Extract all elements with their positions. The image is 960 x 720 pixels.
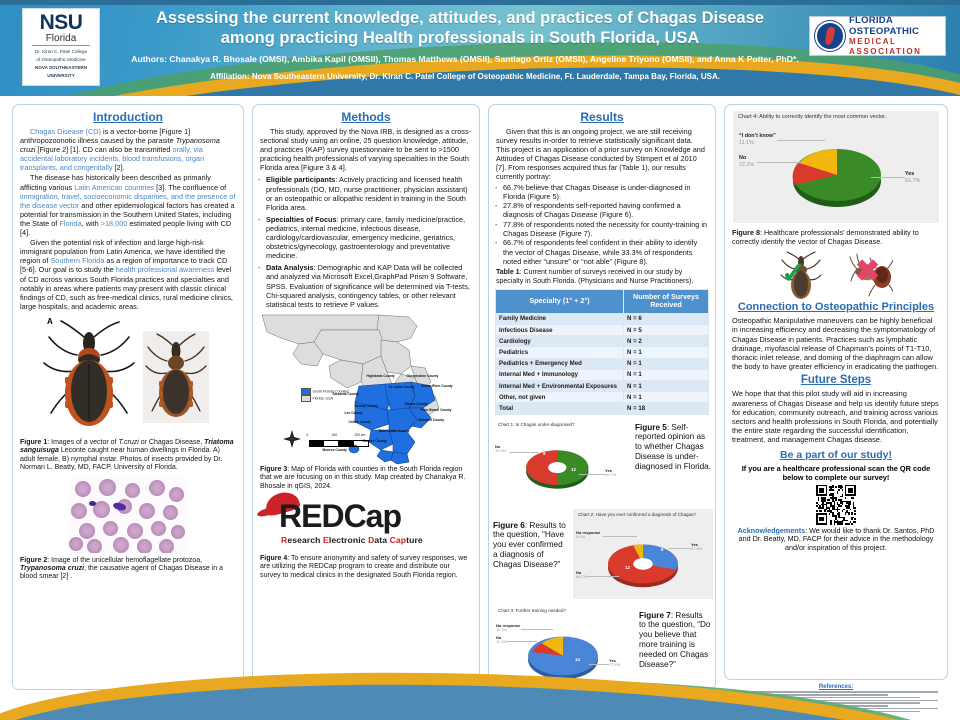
- check-icon: ✓: [781, 259, 806, 289]
- chart-4-leader-no: [757, 162, 801, 163]
- table-header-row: Specialty (1° + 2°) Number of Surveys Re…: [496, 290, 709, 314]
- figure-8-caption-text: : Healthcare professionals’ demonstrated…: [732, 228, 919, 246]
- results-heading: Results: [489, 110, 715, 124]
- chart-4-label-yes: Yes66.7%: [905, 171, 920, 185]
- red-blood-cell: [163, 505, 178, 520]
- table-row: Pediatrics + Emergency MedN = 1: [496, 358, 709, 369]
- red-blood-cell: [71, 503, 87, 519]
- figure-2-caption-label: Figure 2: [20, 557, 47, 564]
- intro-stat-18000: >18,000: [101, 219, 128, 228]
- footer-swoosh: [0, 666, 960, 720]
- figure-8-vector-images: ✓ ✖: [725, 251, 947, 299]
- chart-2-slice-no-count: 12: [625, 565, 630, 570]
- chart-1-leader-yes: [579, 474, 605, 475]
- cell-count: N = 2: [624, 336, 709, 347]
- table-row: Family MedicineN = 6: [496, 313, 709, 324]
- intro-paragraph-2: The disease has historically been descri…: [20, 173, 236, 237]
- chart-4-leader-yes: [871, 177, 905, 178]
- map-scale-0: 0: [307, 433, 309, 437]
- surveys-by-specialty-table: Specialty (1° + 2°) Number of Surveys Re…: [495, 289, 709, 415]
- figure-6-caption-label: Figure 6: [493, 521, 525, 530]
- methods-paragraph-1: This study, approved by the Nova IRB, is…: [260, 127, 472, 172]
- results-bullet-0: 66.7% believe that Chagas Disease is und…: [493, 183, 708, 202]
- map-label-sarasota: Sarasota County: [333, 392, 359, 396]
- figure-1-image: A B: [19, 315, 237, 437]
- red-blood-cell: [171, 525, 185, 539]
- authors-line: Authors: Chanakya R. Bhosale (OMSI), Amb…: [100, 54, 830, 65]
- red-blood-cell: [125, 483, 140, 498]
- methods-bullet-1-label: Specialties of Focus: [266, 215, 337, 224]
- methods-bullet-2-label: Data Analysis: [266, 263, 314, 272]
- cross-icon: ✖: [855, 257, 880, 287]
- methods-panel: Methods This study, approved by the Nova…: [252, 104, 480, 690]
- triatoma-adult-icon: [41, 319, 137, 431]
- map-label-stlucie: St. Lucie County: [389, 385, 415, 389]
- chart-1-label-no: No33.3%: [495, 445, 506, 455]
- figure-7-caption: Figure 7: Results to the question, “Do y…: [639, 611, 711, 670]
- chart-3-leader-yes: [589, 664, 609, 665]
- chart-2-label-noresponse: No response5.6%: [576, 531, 600, 541]
- red-blood-cell: [75, 481, 91, 497]
- intro-paragraph-1: Chagas Disease (CD) is a vector-borne [F…: [20, 127, 236, 172]
- results-intro: Given that this is an ongoing project, w…: [489, 127, 715, 182]
- chart-3-label-no: No11.1%: [496, 636, 507, 646]
- osteopathic-heading: Connection to Osteopathic Principles: [725, 301, 947, 313]
- cell-specialty: Infectious Disease: [496, 325, 624, 336]
- results-bullet-2: 77.8% of respondents noted the necessity…: [493, 220, 708, 239]
- correct-vector-item: ✓: [779, 251, 823, 299]
- title-line-1: Assessing the current knowledge, attitud…: [110, 8, 810, 28]
- right-column-panel: Chart 4: Ability to correctly identify t…: [724, 104, 948, 680]
- figure-3-caption-text: : Map of Florida with counties in the So…: [260, 466, 465, 490]
- chart-2-slice-noresp-count: 1: [637, 535, 639, 540]
- incorrect-vector-item: ✖: [849, 251, 893, 299]
- chart-1: Chart 1: Is Chagas under-diagnosed? 6 12…: [493, 419, 628, 501]
- future-steps-heading: Future Steps: [725, 374, 947, 386]
- compass-rose-icon: [283, 430, 301, 448]
- figure-2-image: [69, 477, 187, 553]
- future-steps-body: We hope that that this pilot study will …: [725, 389, 947, 444]
- methods-bullet-analysis: Data Analysis: Demographic and KAP Data …: [257, 263, 472, 308]
- red-blood-cell: [149, 480, 165, 496]
- qr-matrix: [816, 485, 856, 525]
- figure-3-map: South Florida Counties Florida, USA High…: [259, 312, 474, 464]
- results-bullet-list: 66.7% believe that Chagas Disease is und…: [489, 183, 715, 267]
- methods-heading: Methods: [253, 110, 479, 124]
- map-label-glades: Glades County: [405, 402, 428, 406]
- map-label-hendry: Hendry County: [355, 404, 379, 408]
- table-row: PediatricsN = 1: [496, 347, 709, 358]
- header-top-rule: [0, 0, 960, 5]
- results-panel: Results Given that this is an ongoing pr…: [488, 104, 716, 690]
- red-blood-cell: [137, 539, 152, 553]
- table-row: Infectious DiseaseN = 5: [496, 325, 709, 336]
- chart-1-title: Chart 1: Is Chagas under-diagnosed?: [498, 422, 620, 428]
- map-legend-swatch-selected: [301, 388, 311, 395]
- page-title: Assessing the current knowledge, attitud…: [110, 8, 810, 48]
- chart-1-leader-no: [509, 452, 539, 453]
- chart-2-title: Chart 2: Have you ever confirmed a diagn…: [578, 512, 704, 518]
- chart-2-label-yes: Yes27.8%: [691, 543, 702, 553]
- cell-count: N = 18: [624, 403, 709, 414]
- chart-1-label-yes: Yes66.7%: [605, 469, 616, 479]
- chart-3-leader-no: [507, 641, 537, 642]
- nsu-wordmark: NSU: [26, 13, 96, 33]
- red-blood-cell: [139, 503, 155, 519]
- map-label-lee: Lee County: [345, 411, 363, 415]
- methods-bullet-eligible: Eligible participants: Actively practici…: [257, 175, 472, 211]
- intro-p1-f: [2].: [113, 163, 125, 172]
- table-body: Family MedicineN = 6Infectious DiseaseN …: [496, 313, 709, 414]
- methods-bullet-specialties: Specialties of Focus: primary care, fami…: [257, 215, 472, 260]
- triatoma-nymph-icon: [143, 331, 209, 423]
- figure-3-caption: Figure 3: Map of Florida with counties i…: [253, 464, 479, 491]
- table-col-count: Number of Surveys Received: [624, 290, 709, 314]
- title-line-2: among practicing Health professionals in…: [110, 28, 810, 48]
- map-legend-swatch-base: [301, 395, 311, 402]
- cell-count: N = 1: [624, 358, 709, 369]
- redcap-tagline: Research Electronic Data Capture: [281, 535, 423, 545]
- table-1-caption: Table 1: Current number of surveys recei…: [489, 266, 715, 286]
- map-label-highlands: Highlands County: [367, 374, 395, 378]
- table-row: CardiologyN = 2: [496, 336, 709, 347]
- red-blood-cell: [87, 539, 102, 553]
- intro-term-awareness: health professional awareness: [116, 265, 215, 274]
- cell-specialty: Pediatrics: [496, 347, 624, 358]
- figure-4-caption: Figure 4: To ensure anonymity and safety…: [253, 551, 479, 580]
- poster-canvas: NSU Florida Dr. Kiran C. Patel College o…: [0, 0, 960, 720]
- intro-p1-d: [Figure 2] [1]. CD can also be transmitt…: [35, 145, 172, 154]
- cell-count: N = 1: [624, 347, 709, 358]
- foma-line-2: MEDICAL ASSOCIATION: [849, 37, 940, 57]
- chart-1-pie-icon: [493, 431, 628, 497]
- osteopathic-body: Osteopathic Manipulative maneuvers can b…: [725, 316, 947, 371]
- foma-seal-icon: [815, 21, 845, 51]
- map-label-okeechobee: Okeechobee County: [407, 374, 439, 378]
- intro-term-latam: Latin American countries: [74, 183, 154, 192]
- table-row: Other, not givenN = 1: [496, 392, 709, 403]
- cell-specialty: Total: [496, 403, 624, 414]
- nsu-university-line1: NOVA SOUTHEASTERN: [26, 65, 96, 70]
- chart-4-label-idontknow: “I don’t know”11.1%: [739, 133, 776, 147]
- affiliation-line: Affiliation: Nova Southeastern Universit…: [100, 72, 830, 82]
- red-blood-cell: [159, 539, 174, 553]
- map-label-miamidade: Miami-Dade County: [379, 429, 410, 433]
- map-scale-200: 200 km: [355, 433, 366, 437]
- acknowledgements: Acknowledgements: We would like to thank…: [725, 525, 947, 557]
- chart-4-label-no: No22.2%: [739, 155, 754, 169]
- red-blood-cell: [127, 523, 143, 539]
- table-col-specialty: Specialty (1° + 2°): [496, 290, 624, 314]
- table-row: Internal Med + ImmunologyN = 1: [496, 369, 709, 380]
- chart-2-leader-no: [587, 576, 619, 577]
- redcap-wordmark: REDCap: [279, 499, 401, 533]
- chart-2-slice-yes-count: 5: [661, 547, 663, 552]
- chart-3-slice-noresp-count: 2: [555, 627, 557, 632]
- intro-paragraph-3: Given the potential risk of infection an…: [20, 238, 236, 311]
- figure-2-caption-sp: Trypanosoma cruzi: [20, 565, 84, 572]
- chart-2-label-no: No66.7%: [576, 571, 587, 581]
- intro-term-florida: Florida: [59, 219, 81, 228]
- map-scale-100: 100: [332, 433, 338, 437]
- chart-3-slice-no-count: 2: [539, 637, 541, 642]
- cell-count: N = 6: [624, 313, 709, 324]
- figure-6-caption: Figure 6: Results to the question, “Have…: [493, 521, 569, 570]
- figure-1-caption-label: Figure 1: [20, 439, 47, 446]
- chart-4-leader-idontknow: [777, 140, 825, 141]
- map-label-broward: Broward County: [419, 418, 445, 422]
- red-blood-cell: [99, 479, 116, 496]
- nsu-state-label: Florida: [32, 33, 90, 46]
- cta-text: If you are a healthcare professional sca…: [725, 464, 947, 482]
- nsu-college-line1: Dr. Kiran C. Patel College: [26, 49, 96, 54]
- figure-4-caption-label: Figure 4: [260, 555, 287, 562]
- table-row: Internal Med + Environmental ExposuresN …: [496, 380, 709, 391]
- figure-8-caption: Figure 8: Healthcare professionals’ demo…: [725, 223, 947, 246]
- methods-bullet-0-label: Eligible participants: [266, 175, 335, 184]
- red-blood-cell: [79, 523, 95, 539]
- chart-3-slice-yes-count: 14: [575, 657, 580, 662]
- map-label-collier: Collier County: [349, 420, 372, 424]
- figure-1-caption-sp1: T.cruzi: [118, 439, 138, 446]
- map-label-monroe-keys: Monroe County: [323, 448, 347, 452]
- cell-count: N = 1: [624, 392, 709, 403]
- cell-count: N = 1: [624, 380, 709, 391]
- intro-p2-c: [3]. The confluence of: [154, 183, 226, 192]
- figure-1-caption-t1: : Images of a vector of: [47, 439, 118, 446]
- red-blood-cell: [103, 521, 118, 536]
- figure-3-caption-label: Figure 3: [260, 466, 287, 473]
- figure-5-caption-label: Figure 5: [635, 423, 667, 432]
- table-1-caption-label: Table 1: [496, 269, 520, 276]
- methods-bullet-list: Eligible participants: Actively practici…: [253, 175, 479, 308]
- chart-3-title: Chart 3: Further training needed?: [498, 608, 624, 614]
- cell-specialty: Cardiology: [496, 336, 624, 347]
- figure-1-caption: Figure 1: Images of a vector of T.cruzi …: [13, 437, 243, 473]
- red-blood-cell: [69, 537, 83, 551]
- figure-5-block: Chart 1: Is Chagas under-diagnosed? 6 12…: [489, 419, 715, 507]
- chart-3-leader-noresponse: [521, 629, 553, 630]
- chart-1-slice-yes-count: 12: [571, 467, 576, 472]
- intro-term-chagas: Chagas Disease (CD): [30, 127, 101, 136]
- future-steps-paragraph: We hope that that this pilot study will …: [732, 389, 940, 444]
- nsu-university-line2: UNIVERSITY: [26, 73, 96, 78]
- results-bullet-3: 66.7% of respondents feel confident in t…: [493, 238, 708, 266]
- figure-5-caption: Figure 5: Self-reported opinion as to wh…: [635, 423, 711, 472]
- intro-p2-g: , with: [82, 219, 101, 228]
- cta-heading[interactable]: Be a part of our study!: [725, 449, 947, 461]
- nsu-logo: NSU Florida Dr. Kiran C. Patel College o…: [22, 8, 100, 86]
- redcap-logo: REDCap Research Electronic Data Capture: [271, 495, 461, 551]
- figure-2-caption-t1: : Image of the unicellular hemoflagellat…: [47, 557, 202, 564]
- cell-specialty: Internal Med + Immunology: [496, 369, 624, 380]
- red-blood-cell: [113, 537, 129, 553]
- poster-header: NSU Florida Dr. Kiran C. Patel College o…: [0, 0, 960, 96]
- cell-specialty: Family Medicine: [496, 313, 624, 324]
- map-scale-bar: [309, 440, 369, 447]
- cell-specialty: Internal Med + Environmental Exposures: [496, 380, 624, 391]
- figure-6-block: Chart 2: Have you ever confirmed a diagn…: [489, 509, 715, 603]
- map-legend-base: Florida, USA: [301, 395, 350, 402]
- red-blood-cell: [169, 487, 184, 502]
- chart-3-label-noresponse: No response11.1%: [496, 624, 520, 634]
- table-1-caption-text: : Current number of surveys received in …: [496, 269, 693, 284]
- methods-intro: This study, approved by the Nova IRB, is…: [253, 127, 479, 172]
- figure-4-caption-text: : To ensure anonymity and safety of surv…: [260, 555, 467, 579]
- survey-qr-code[interactable]: [787, 485, 885, 525]
- results-bullet-1: 27.8% of respondents self-reported havin…: [493, 201, 708, 220]
- chart-4-title: Chart 4: Ability to correctly identify t…: [738, 114, 923, 121]
- nsu-college-line2: of Osteopathic Medicine: [26, 57, 96, 62]
- map-label-palmbeach: Palm Beach County: [421, 408, 452, 412]
- cell-specialty: Other, not given: [496, 392, 624, 403]
- introduction-panel: Introduction Chagas Disease (CD) is a ve…: [12, 104, 244, 690]
- intro-term-south-florida: Southern Florida: [50, 256, 104, 265]
- trypanosoma-parasite-2: [89, 501, 96, 506]
- red-blood-cell: [151, 521, 166, 536]
- cell-count: N = 5: [624, 325, 709, 336]
- figure-7-caption-label: Figure 7: [639, 611, 671, 620]
- chart-1-slice-no-count: 6: [543, 451, 545, 456]
- chart-4: Chart 4: Ability to correctly identify t…: [733, 111, 939, 223]
- cell-count: N = 1: [624, 369, 709, 380]
- figure-1-caption-t2: or Chagas Disease,: [139, 439, 204, 446]
- chart-2-leader-yes: [669, 548, 691, 549]
- foma-logo: FLORIDA OSTEOPATHIC MEDICAL ASSOCIATION: [809, 16, 946, 56]
- results-paragraph-1: Given that this is an ongoing project, w…: [496, 127, 708, 182]
- chart-2: Chart 2: Have you ever confirmed a diagn…: [573, 509, 713, 599]
- cell-specialty: Pediatrics + Emergency Med: [496, 358, 624, 369]
- osteopathic-paragraph: Osteopathic Manipulative maneuvers can b…: [732, 316, 940, 371]
- foma-line-1: FLORIDA OSTEOPATHIC: [849, 15, 940, 37]
- introduction-heading: Introduction: [13, 110, 243, 124]
- introduction-body: Chagas Disease (CD) is a vector-borne [F…: [13, 127, 243, 311]
- map-label-indianriver: Indian River County: [422, 384, 453, 388]
- table-row: TotalN = 18: [496, 403, 709, 414]
- chart-2-leader-noresponse: [603, 536, 637, 537]
- figure-2-caption: Figure 2: Image of the unicellular hemof…: [13, 553, 243, 582]
